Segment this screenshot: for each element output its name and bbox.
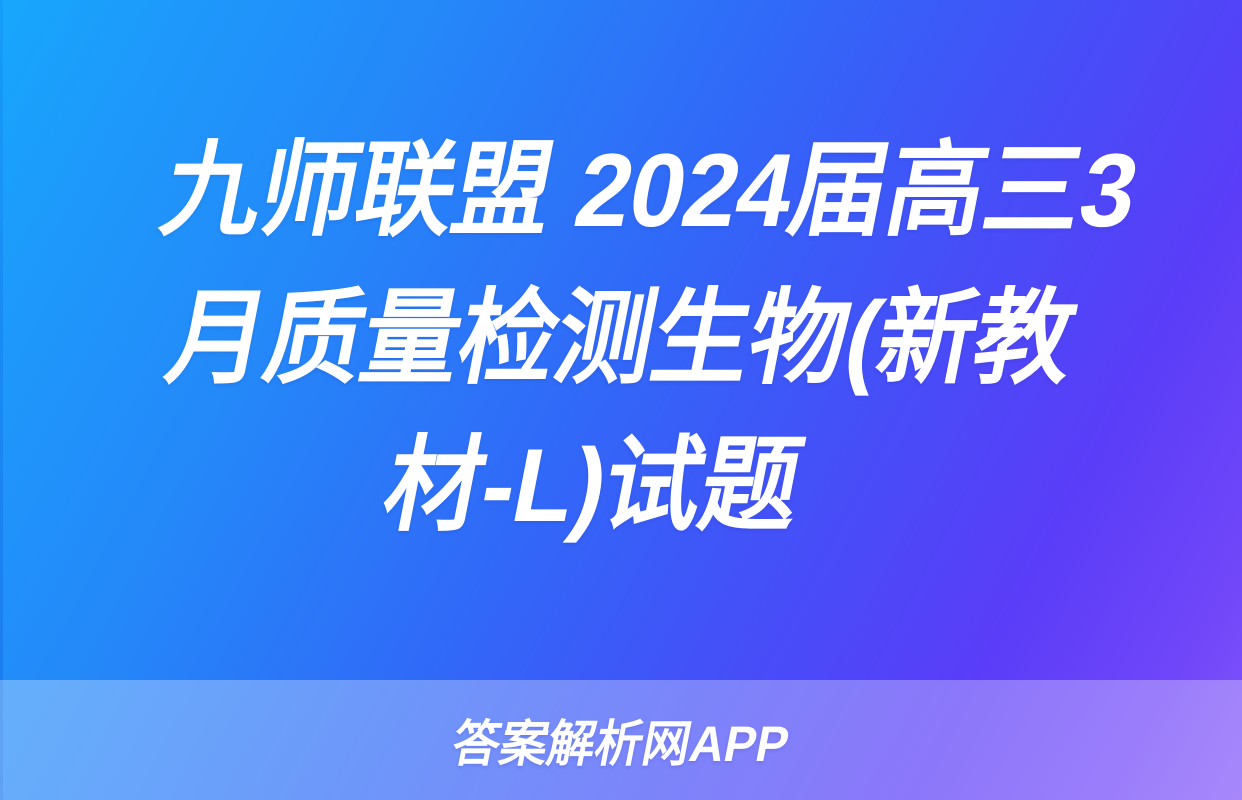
page-title: 九师联盟 2024届高三3月质量检测生物(新教材-L)试题 bbox=[84, 118, 1157, 561]
watermark-band: 答案解析网APP bbox=[0, 680, 1242, 800]
title-card: 九师联盟 2024届高三3月质量检测生物(新教材-L)试题 答案解析网APP bbox=[0, 0, 1242, 800]
watermark-brand-label: 答案解析网APP bbox=[446, 704, 795, 776]
document-title-block: 九师联盟 2024届高三3月质量检测生物(新教材-L)试题 bbox=[0, 0, 1242, 680]
